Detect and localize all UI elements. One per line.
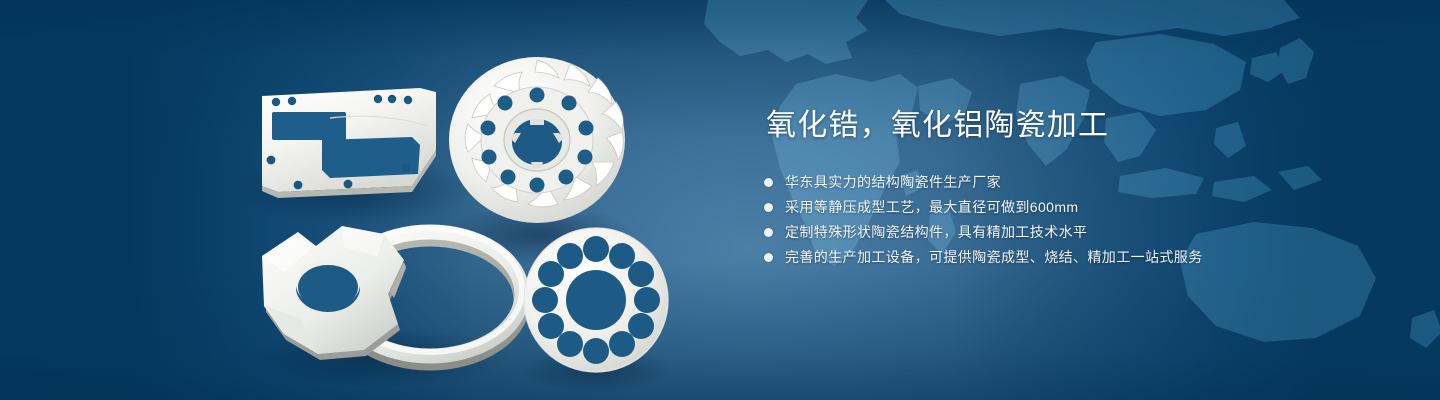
feature-text: 采用等静压成型工艺，最大直径可做到600mm xyxy=(785,197,1078,217)
list-item: 定制特殊形状陶瓷结构件，具有精加工技术水平 xyxy=(764,220,1384,244)
list-item: 采用等静压成型工艺，最大直径可做到600mm xyxy=(764,195,1384,219)
banner-text-block: 氧化锆，氧化铝陶瓷加工 华东具实力的结构陶瓷件生产厂家 采用等静压成型工艺，最大… xyxy=(764,108,1384,270)
feature-text: 华东具实力的结构陶瓷件生产厂家 xyxy=(785,172,1001,192)
list-item: 华东具实力的结构陶瓷件生产厂家 xyxy=(764,170,1384,194)
ceramic-perforated-disc-part xyxy=(524,228,668,372)
ceramic-products-group xyxy=(0,0,760,400)
ceramic-plate-part xyxy=(262,88,436,198)
promo-banner: 氧化锆，氧化铝陶瓷加工 华东具实力的结构陶瓷件生产厂家 采用等静压成型工艺，最大… xyxy=(0,0,1440,400)
feature-text: 定制特殊形状陶瓷结构件，具有精加工技术水平 xyxy=(785,222,1087,242)
bullet-dot-icon xyxy=(764,178,773,187)
list-item: 完善的生产加工设备，可提供陶瓷成型、烧结、精加工一站式服务 xyxy=(764,245,1384,269)
bullet-dot-icon xyxy=(764,228,773,237)
bullet-dot-icon xyxy=(764,253,773,262)
feature-list: 华东具实力的结构陶瓷件生产厂家 采用等静压成型工艺，最大直径可做到600mm 定… xyxy=(764,170,1384,269)
page-title: 氧化锆，氧化铝陶瓷加工 xyxy=(766,108,1384,144)
ceramic-impeller-part xyxy=(449,57,625,223)
bullet-dot-icon xyxy=(764,203,773,212)
feature-text: 完善的生产加工设备，可提供陶瓷成型、烧结、精加工一站式服务 xyxy=(785,247,1203,267)
